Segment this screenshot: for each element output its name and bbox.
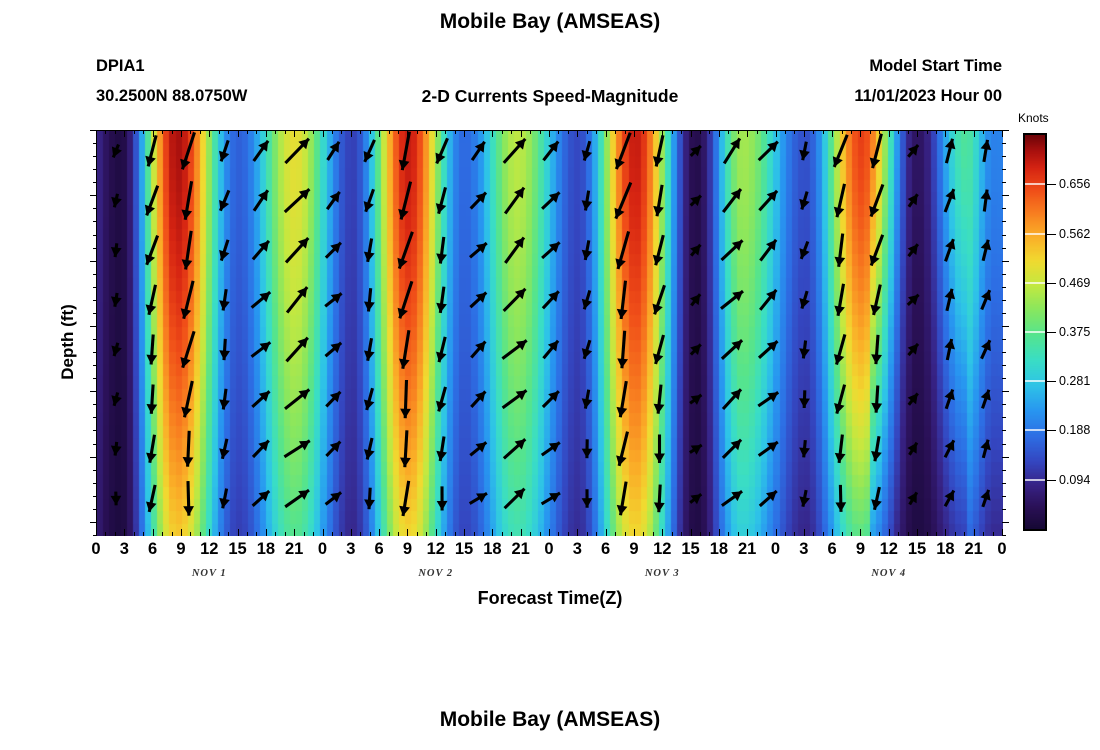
x-axis-minor-tick [568, 130, 569, 134]
x-axis-minor-tick [823, 130, 824, 134]
x-axis-minor-tick [700, 130, 701, 134]
y-axis-tick [90, 326, 97, 327]
colorbar-tick-label: 0.656 [1059, 177, 1090, 191]
x-axis-minor-tick [200, 532, 201, 536]
colorbar-tick-label: 0.188 [1059, 423, 1090, 437]
colorbar-tick [1047, 184, 1056, 185]
y-axis-tick [1002, 143, 1006, 144]
x-axis-minor-tick [625, 130, 626, 134]
x-axis-day-label: NOV 2 [418, 568, 453, 579]
x-axis-minor-tick [360, 130, 361, 134]
y-axis-tick [93, 430, 97, 431]
x-axis-tick-label: 21 [738, 540, 756, 559]
x-axis-minor-tick [275, 130, 276, 134]
x-axis-tick-label: 0 [771, 540, 780, 559]
y-axis-tick [1002, 300, 1006, 301]
x-axis-minor-tick [964, 130, 965, 134]
x-axis-tick [776, 529, 777, 536]
x-axis-minor-tick [313, 532, 314, 536]
x-axis-tick [153, 529, 154, 536]
x-axis-tick [776, 130, 777, 137]
y-axis-tick [1002, 169, 1006, 170]
x-axis-minor-tick [389, 130, 390, 134]
x-axis-tick [889, 529, 890, 536]
x-axis-minor-tick [908, 532, 909, 536]
x-axis-minor-tick [426, 532, 427, 536]
y-axis-tick [1002, 404, 1006, 405]
x-axis-minor-tick [256, 532, 257, 536]
x-axis-tick-label: 9 [176, 540, 185, 559]
y-axis-ticks-left [89, 130, 97, 535]
y-axis-tick [1002, 339, 1006, 340]
x-axis-minor-tick [908, 130, 909, 134]
x-axis-minor-tick [530, 532, 531, 536]
x-axis-minor-tick [162, 130, 163, 134]
x-axis-tick-label: 0 [997, 540, 1006, 559]
x-axis-minor-tick [851, 130, 852, 134]
x-axis-tick-label: 12 [653, 540, 671, 559]
x-axis-tick-label: 21 [512, 540, 530, 559]
x-axis-minor-tick [936, 532, 937, 536]
x-axis-tick [351, 529, 352, 536]
y-axis-tick [1002, 352, 1006, 353]
x-axis-tick [662, 130, 663, 137]
x-axis-minor-tick [653, 130, 654, 134]
y-axis-tick [93, 470, 97, 471]
x-axis-minor-tick [615, 532, 616, 536]
x-axis-tick-label: 0 [544, 540, 553, 559]
y-axis-tick [1002, 326, 1009, 327]
x-axis-minor-tick [341, 532, 342, 536]
x-axis-minor-tick [247, 130, 248, 134]
x-axis-minor-tick [426, 130, 427, 134]
x-axis-minor-tick [417, 532, 418, 536]
x-axis-tick [351, 130, 352, 137]
x-axis-tick-label: 15 [681, 540, 699, 559]
x-axis-minor-tick [540, 532, 541, 536]
x-axis-minor-tick [558, 532, 559, 536]
x-axis-minor-tick [936, 130, 937, 134]
x-axis-tick-label: 0 [318, 540, 327, 559]
x-axis-minor-tick [115, 130, 116, 134]
x-axis-minor-tick [709, 532, 710, 536]
x-axis-tick-label: 18 [936, 540, 954, 559]
y-axis-tick [1002, 378, 1006, 379]
y-axis-tick [93, 313, 97, 314]
x-axis-minor-tick [143, 130, 144, 134]
x-axis-ticks-bottom [96, 528, 1002, 536]
x-axis-minor-tick [879, 130, 880, 134]
x-axis-minor-tick [540, 130, 541, 134]
x-axis-tick [634, 529, 635, 536]
y-axis-tick [1002, 509, 1006, 510]
x-axis-minor-tick [105, 130, 106, 134]
x-axis-minor-tick [398, 130, 399, 134]
y-axis-tick [1002, 274, 1006, 275]
x-axis-tick [634, 130, 635, 137]
colorbar-tick [1047, 430, 1056, 431]
y-axis-tick [1002, 261, 1009, 262]
y-axis-tick [93, 143, 97, 144]
x-axis-tick-label: 9 [403, 540, 412, 559]
x-axis-minor-tick [474, 130, 475, 134]
x-axis-minor-tick [474, 532, 475, 536]
x-axis-tick [945, 130, 946, 137]
x-axis-tick-label: 12 [427, 540, 445, 559]
x-axis-tick-label: 15 [908, 540, 926, 559]
x-axis-minor-tick [219, 532, 220, 536]
x-axis-minor-tick [370, 130, 371, 134]
x-axis-tick [181, 130, 182, 137]
x-axis-minor-tick [993, 532, 994, 536]
y-axis-tick [1002, 235, 1006, 236]
y-axis-tick [90, 130, 97, 131]
x-axis-tick-label: 6 [148, 540, 157, 559]
x-axis-minor-tick [445, 532, 446, 536]
colorbar-inner-dash [1025, 380, 1045, 382]
x-axis-tick [662, 529, 663, 536]
x-axis-tick [606, 130, 607, 137]
y-axis-tick [90, 195, 97, 196]
x-axis-minor-tick [927, 130, 928, 134]
y-axis-tick [93, 483, 97, 484]
x-axis-tick-label: 3 [346, 540, 355, 559]
x-axis-tick [860, 130, 861, 137]
x-axis-minor-tick [596, 130, 597, 134]
y-axis-tick [93, 300, 97, 301]
x-axis-minor-tick [502, 532, 503, 536]
x-axis-minor-tick [228, 532, 229, 536]
x-axis-tick [436, 529, 437, 536]
x-axis-minor-tick [389, 532, 390, 536]
colorbar-tick [1047, 332, 1056, 333]
y-axis-tick [93, 352, 97, 353]
x-axis-tick-label: 12 [200, 540, 218, 559]
y-axis-tick [93, 509, 97, 510]
y-axis-tick [1002, 365, 1006, 366]
y-axis-title: Depth (ft) [58, 262, 78, 422]
x-axis-minor-tick [285, 532, 286, 536]
colorbar-tick [1047, 234, 1056, 235]
y-axis-tick [1002, 470, 1006, 471]
y-axis-tick [93, 208, 97, 209]
x-axis-minor-tick [757, 130, 758, 134]
x-axis-tick [606, 529, 607, 536]
colorbar-tick-label: 0.094 [1059, 473, 1090, 487]
x-axis-minor-tick [709, 130, 710, 134]
x-axis-tick [238, 529, 239, 536]
x-axis-tick [577, 529, 578, 536]
x-axis-minor-tick [360, 532, 361, 536]
x-axis-minor-tick [332, 532, 333, 536]
x-axis-tick [917, 130, 918, 137]
x-axis-tick [181, 529, 182, 536]
x-axis-minor-tick [766, 532, 767, 536]
x-axis-minor-tick [115, 532, 116, 536]
x-axis-tick-label: 3 [799, 540, 808, 559]
x-axis-minor-tick [794, 532, 795, 536]
x-axis-tick [323, 130, 324, 137]
x-axis-minor-tick [898, 532, 899, 536]
x-axis-day-label: NOV 1 [192, 568, 227, 579]
colorbar-inner-dash [1025, 331, 1045, 333]
x-axis-minor-tick [285, 130, 286, 134]
x-axis-tick [436, 130, 437, 137]
x-axis-minor-tick [842, 130, 843, 134]
colorbar-tick [1047, 283, 1056, 284]
x-axis-tick [804, 529, 805, 536]
y-axis-ticks-right [1002, 130, 1010, 535]
x-axis-minor-tick [455, 130, 456, 134]
y-axis-tick [90, 522, 97, 523]
y-axis-tick [1002, 156, 1006, 157]
y-axis-tick [1002, 391, 1009, 392]
x-axis-minor-tick [341, 130, 342, 134]
x-axis-minor-tick [530, 130, 531, 134]
x-axis-tick-label: 12 [880, 540, 898, 559]
x-axis-tick [521, 529, 522, 536]
colorbar-tick-label: 0.562 [1059, 227, 1090, 241]
x-axis-minor-tick [700, 532, 701, 536]
x-axis-minor-tick [483, 532, 484, 536]
x-axis-minor-tick [766, 130, 767, 134]
colorbar-inner-dash [1025, 233, 1045, 235]
y-axis-tick [93, 365, 97, 366]
x-axis-tick [464, 529, 465, 536]
x-axis-minor-tick [625, 532, 626, 536]
y-axis-tick [90, 261, 97, 262]
x-axis-tick [407, 529, 408, 536]
x-axis-tick [577, 130, 578, 137]
y-axis-tick [1002, 182, 1006, 183]
colorbar-inner-dash [1025, 429, 1045, 431]
x-axis-tick-label: 3 [573, 540, 582, 559]
station-id-label: DPIA1 [96, 57, 145, 76]
x-axis-tick-label: 21 [965, 540, 983, 559]
y-axis-tick [1002, 130, 1009, 131]
x-axis-minor-tick [200, 130, 201, 134]
x-axis-tick [379, 529, 380, 536]
x-axis-minor-tick [964, 532, 965, 536]
x-axis-tick [323, 529, 324, 536]
x-axis-tick-label: 18 [710, 540, 728, 559]
heatmap-plot-area [96, 130, 1002, 535]
x-axis-minor-tick [558, 130, 559, 134]
main-title: Mobile Bay (AMSEAS) [0, 10, 1100, 34]
x-axis-tick [124, 130, 125, 137]
x-axis-tick [804, 130, 805, 137]
x-axis-tick [209, 529, 210, 536]
x-axis-minor-tick [219, 130, 220, 134]
x-axis-minor-tick [417, 130, 418, 134]
x-axis-minor-tick [134, 130, 135, 134]
x-axis-minor-tick [190, 130, 191, 134]
colorbar-inner-dash [1025, 282, 1045, 284]
y-axis-tick [93, 287, 97, 288]
x-axis-tick-label: 3 [120, 540, 129, 559]
x-axis-tick [719, 130, 720, 137]
y-axis-tick [93, 535, 97, 536]
x-axis-minor-tick [172, 130, 173, 134]
colorbar-tick-label: 0.469 [1059, 276, 1090, 290]
x-axis-tick-label: 6 [375, 540, 384, 559]
x-axis-tick [464, 130, 465, 137]
x-axis-tick [124, 529, 125, 536]
colorbar-tick-label: 0.375 [1059, 325, 1090, 339]
x-axis-minor-tick [738, 130, 739, 134]
x-axis-minor-tick [643, 532, 644, 536]
x-axis-minor-tick [870, 532, 871, 536]
x-axis-minor-tick [162, 532, 163, 536]
x-axis-tick [407, 130, 408, 137]
x-axis-minor-tick [483, 130, 484, 134]
x-axis-tick [945, 529, 946, 536]
y-axis-tick [1002, 221, 1006, 222]
x-axis-minor-tick [172, 532, 173, 536]
x-axis-minor-tick [672, 130, 673, 134]
y-axis-tick [93, 496, 97, 497]
x-axis-tick [238, 130, 239, 137]
x-axis-minor-tick [993, 130, 994, 134]
x-axis-tick-label: 9 [629, 540, 638, 559]
x-axis-minor-tick [587, 532, 588, 536]
y-axis-tick [1002, 287, 1006, 288]
x-axis-tick [832, 130, 833, 137]
x-axis-tick-label: 15 [455, 540, 473, 559]
x-axis-minor-tick [813, 130, 814, 134]
x-axis-minor-tick [681, 130, 682, 134]
x-axis-minor-tick [842, 532, 843, 536]
y-axis-tick [1002, 430, 1006, 431]
x-axis-minor-tick [143, 532, 144, 536]
x-axis-minor-tick [813, 532, 814, 536]
x-axis-minor-tick [785, 532, 786, 536]
x-axis-minor-tick [851, 532, 852, 536]
x-axis-minor-tick [596, 532, 597, 536]
y-axis-tick [93, 274, 97, 275]
x-axis-minor-tick [983, 532, 984, 536]
x-axis-tick [747, 529, 748, 536]
x-axis-minor-tick [304, 532, 305, 536]
y-axis-tick [93, 404, 97, 405]
x-axis-minor-tick [247, 532, 248, 536]
y-axis-tick [93, 156, 97, 157]
x-axis-tick [294, 130, 295, 137]
x-axis-tick [691, 130, 692, 137]
x-axis-minor-tick [304, 130, 305, 134]
x-axis-minor-tick [643, 130, 644, 134]
y-axis-tick [1002, 535, 1006, 536]
x-axis-tick [266, 529, 267, 536]
y-axis-tick [1002, 248, 1006, 249]
x-axis-tick-label: 18 [483, 540, 501, 559]
x-axis-minor-tick [615, 130, 616, 134]
y-axis-tick [1002, 208, 1006, 209]
x-axis-tick [974, 130, 975, 137]
x-axis-minor-tick [983, 130, 984, 134]
x-axis-tick [492, 130, 493, 137]
y-axis-tick [93, 378, 97, 379]
x-axis-minor-tick [794, 130, 795, 134]
x-axis-minor-tick [455, 532, 456, 536]
x-axis-minor-tick [134, 532, 135, 536]
x-axis-minor-tick [728, 532, 729, 536]
y-axis-tick [1002, 496, 1006, 497]
x-axis-minor-tick [879, 532, 880, 536]
x-axis-day-label: NOV 3 [645, 568, 680, 579]
x-axis-minor-tick [681, 532, 682, 536]
colorbar-inner-dash [1025, 479, 1045, 481]
x-axis-tick [860, 529, 861, 536]
x-axis-tick [294, 529, 295, 536]
x-axis-minor-tick [568, 532, 569, 536]
x-axis-tick [266, 130, 267, 137]
y-axis-tick [1002, 195, 1009, 196]
x-axis-tick [521, 130, 522, 137]
x-axis-tick [974, 529, 975, 536]
x-axis-tick-label: 18 [257, 540, 275, 559]
x-axis-minor-tick [370, 532, 371, 536]
x-axis-tick [549, 529, 550, 536]
x-axis-tick-label: 15 [228, 540, 246, 559]
bottom-caption: Mobile Bay (AMSEAS) [0, 708, 1100, 732]
x-axis-tick [719, 529, 720, 536]
y-axis-tick [93, 235, 97, 236]
x-axis-tick [747, 130, 748, 137]
x-axis-tick-label: 21 [285, 540, 303, 559]
y-axis-tick [1002, 313, 1006, 314]
model-start-time-label: Model Start Time [869, 57, 1002, 76]
x-axis-tick-label: 6 [828, 540, 837, 559]
y-axis-tick [93, 339, 97, 340]
x-axis-day-label: NOV 4 [871, 568, 906, 579]
colorbar-tick [1047, 480, 1056, 481]
x-axis-minor-tick [256, 130, 257, 134]
colorbar-tick-label: 0.281 [1059, 374, 1090, 388]
y-axis-tick [1002, 522, 1009, 523]
x-axis-minor-tick [587, 130, 588, 134]
x-axis-title: Forecast Time(Z) [0, 588, 1100, 609]
x-axis-minor-tick [190, 532, 191, 536]
x-axis-tick [691, 529, 692, 536]
x-axis-tick [832, 529, 833, 536]
x-axis-ticks-top [96, 130, 1002, 138]
current-speed-heatmap [97, 131, 1003, 536]
x-axis-minor-tick [898, 130, 899, 134]
x-axis-minor-tick [757, 532, 758, 536]
x-axis-minor-tick [672, 532, 673, 536]
x-axis-minor-tick [228, 130, 229, 134]
colorbar-inner-dash [1025, 183, 1045, 185]
y-axis-tick [90, 457, 97, 458]
x-axis-minor-tick [313, 130, 314, 134]
x-axis-minor-tick [927, 532, 928, 536]
x-axis-tick-label: 9 [856, 540, 865, 559]
model-start-time-value: 11/01/2023 Hour 00 [854, 87, 1002, 106]
x-axis-minor-tick [870, 130, 871, 134]
y-axis-tick [90, 391, 97, 392]
x-axis-minor-tick [105, 532, 106, 536]
y-axis-tick [1002, 483, 1006, 484]
x-axis-tick [549, 130, 550, 137]
x-axis-tick-label: 6 [601, 540, 610, 559]
x-axis-minor-tick [511, 130, 512, 134]
y-axis-tick [93, 444, 97, 445]
y-axis-tick [1002, 417, 1006, 418]
colorbar-title: Knots [1018, 111, 1049, 125]
y-axis-tick [93, 182, 97, 183]
y-axis-tick [1002, 457, 1009, 458]
